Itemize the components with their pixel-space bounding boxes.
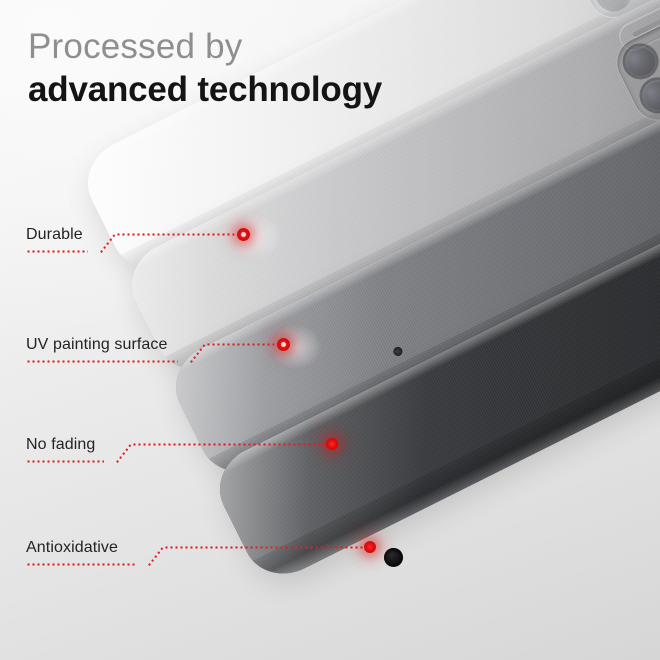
headphone-jack-hole (384, 548, 403, 567)
camera-lens (620, 41, 660, 81)
leader-line-horizontal (164, 546, 368, 549)
label-underline (26, 360, 178, 363)
heading-line-2: advanced technology (28, 68, 382, 112)
leader-line-horizontal (116, 233, 240, 236)
label-underline (26, 460, 104, 463)
marker-dot-no-fading[interactable] (326, 438, 338, 450)
marker-dot-uv-painting-surface[interactable] (277, 338, 290, 351)
product-marketing-image: Processed by advanced technology Durable… (0, 0, 660, 660)
heading-line-1: Processed by (28, 26, 382, 68)
marker-dot-durable[interactable] (237, 228, 250, 241)
label-underline (26, 250, 88, 253)
annotation-label: UV painting surface (26, 336, 168, 354)
marker-dot-antioxidative[interactable] (364, 541, 376, 553)
annotation-label: Durable (26, 226, 83, 244)
label-underline (26, 563, 136, 566)
camera-lens (637, 75, 660, 115)
page-title: Processed by advanced technology (28, 26, 382, 112)
leader-line-horizontal (132, 443, 330, 446)
annotation-label: No fading (26, 436, 95, 454)
annotation-label: Antioxidative (26, 539, 118, 557)
leader-line-horizontal (206, 343, 280, 346)
